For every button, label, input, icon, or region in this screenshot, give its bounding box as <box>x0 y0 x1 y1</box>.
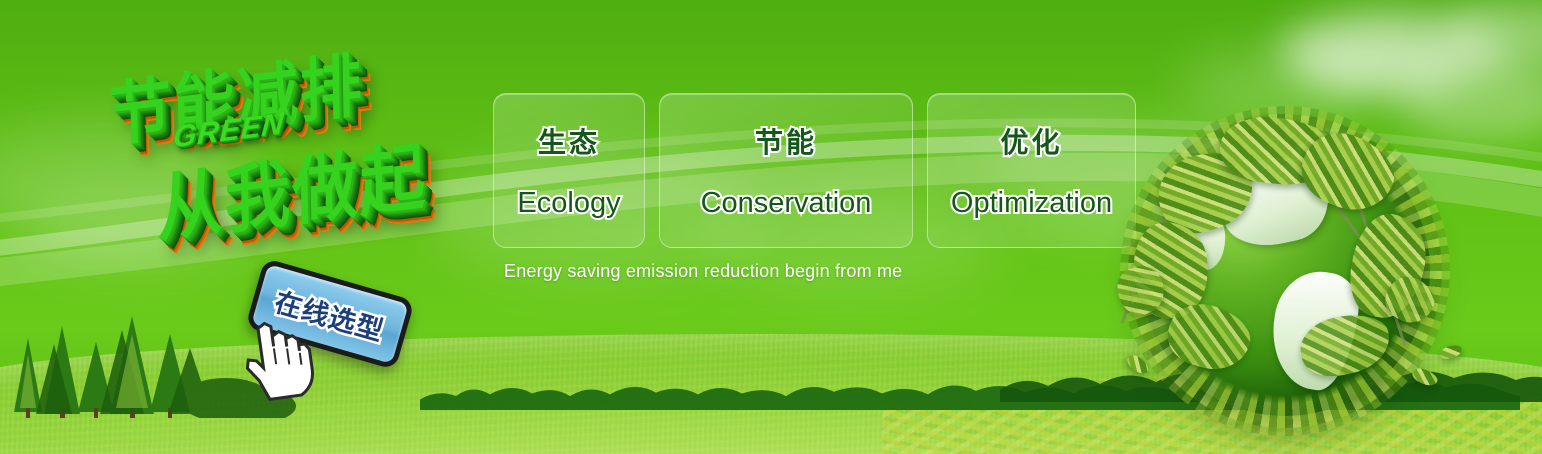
cloud-icon <box>1440 0 1542 70</box>
feature-title-cn: 节能 <box>755 121 817 161</box>
continent-south-america <box>1265 265 1364 394</box>
feature-title-cn: 生态 <box>538 121 600 161</box>
headline-3d: 节能减排 GREEN 从我做起 <box>85 14 510 291</box>
globe-sphere <box>1140 126 1430 416</box>
feature-box-optimization[interactable]: 优化 Optimization <box>927 93 1136 248</box>
feature-title-en: Ecology <box>517 187 620 220</box>
cloud-icon <box>1300 30 1460 90</box>
eco-globe-icon <box>1140 126 1430 416</box>
cloud-icon <box>1275 8 1505 94</box>
feature-title-cn: 优化 <box>1000 121 1062 161</box>
continent-greenland <box>1174 209 1231 276</box>
feature-title-en: Conservation <box>701 187 872 220</box>
feature-box-ecology[interactable]: 生态 Ecology <box>493 93 645 248</box>
online-selection-label: 在线选型 <box>271 280 389 348</box>
feature-box-group: 生态 Ecology 节能 Conservation 优化 Optimizati… <box>493 93 1136 248</box>
cloud-icon <box>1180 50 1380 130</box>
eco-banner: 节能减排 GREEN 从我做起 生态 Ecology 节能 Conservati… <box>0 0 1542 454</box>
feature-box-conservation[interactable]: 节能 Conservation <box>659 93 913 248</box>
tagline: Energy saving emission reduction begin f… <box>504 261 902 282</box>
feature-title-en: Optimization <box>951 187 1112 220</box>
